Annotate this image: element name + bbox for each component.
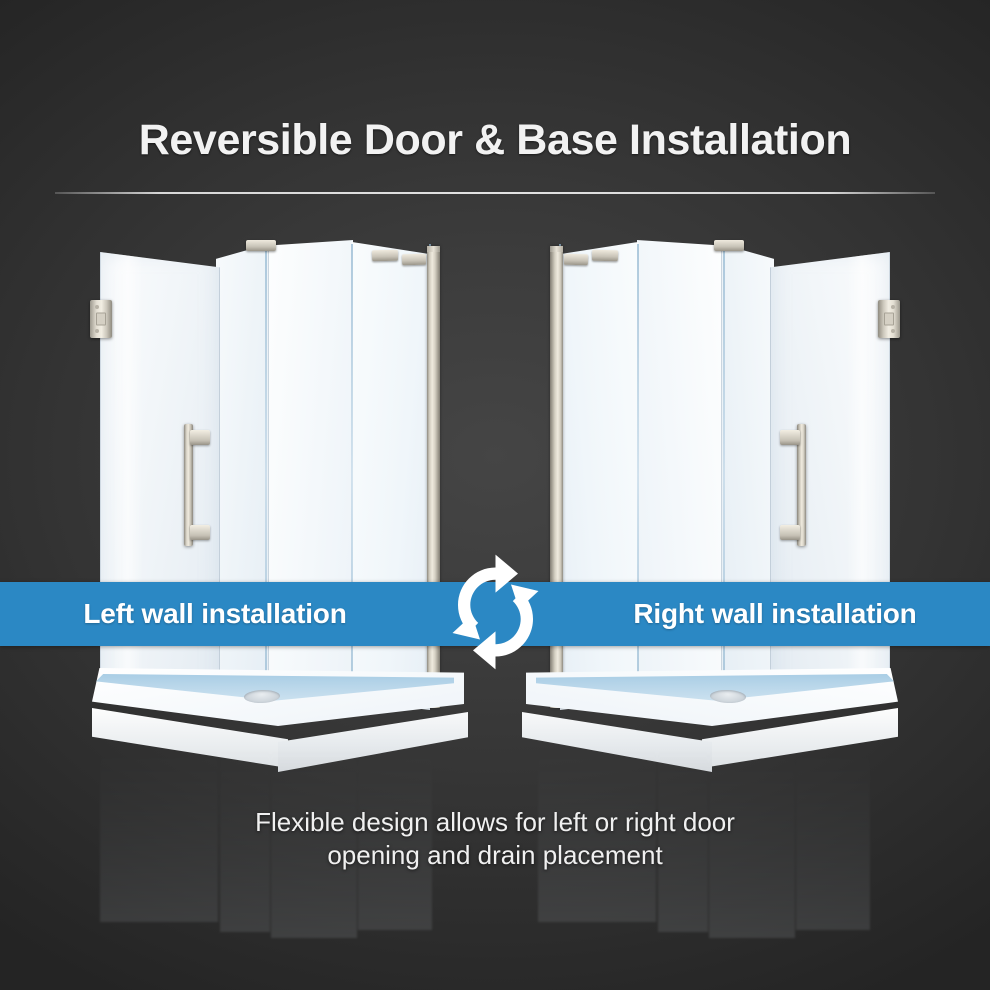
door-handle xyxy=(184,424,210,546)
door-hinge-icon xyxy=(878,300,900,338)
handle-standoff-icon xyxy=(780,430,800,445)
left-wall-shower-enclosure xyxy=(96,236,456,756)
door-hinge-icon xyxy=(90,300,112,338)
hinge-pin-icon xyxy=(884,313,894,326)
caption-text: Flexible design allows for left or right… xyxy=(0,806,990,872)
hinge-screw-icon xyxy=(891,305,895,309)
top-bracket-icon xyxy=(714,240,744,251)
caption-line-1: Flexible design allows for left or right… xyxy=(0,806,990,839)
reverse-arrows-icon xyxy=(448,553,543,671)
handle-standoff-icon xyxy=(780,525,800,540)
marketing-image: Reversible Door & Base Installation xyxy=(0,0,990,990)
hinge-screw-icon xyxy=(95,329,99,333)
hinge-pin-icon xyxy=(96,313,106,326)
hinge-screw-icon xyxy=(95,305,99,309)
caption-line-2: opening and drain placement xyxy=(0,839,990,872)
top-bracket-icon xyxy=(402,254,426,266)
top-bracket-icon xyxy=(246,240,276,251)
wall-profile-cap xyxy=(427,246,440,252)
top-bracket-icon xyxy=(372,250,398,262)
hinge-screw-icon xyxy=(891,329,895,333)
top-bracket-icon xyxy=(564,254,588,266)
right-installation-label: Right wall installation xyxy=(560,582,990,646)
wall-profile-cap xyxy=(550,246,563,252)
top-bracket-icon xyxy=(592,250,618,262)
handle-standoff-icon xyxy=(190,525,210,540)
handle-standoff-icon xyxy=(190,430,210,445)
title-divider xyxy=(55,192,935,194)
door-handle xyxy=(780,424,806,546)
left-installation-label: Left wall installation xyxy=(0,582,430,646)
right-wall-shower-enclosure xyxy=(534,236,894,756)
page-title: Reversible Door & Base Installation xyxy=(0,116,990,165)
